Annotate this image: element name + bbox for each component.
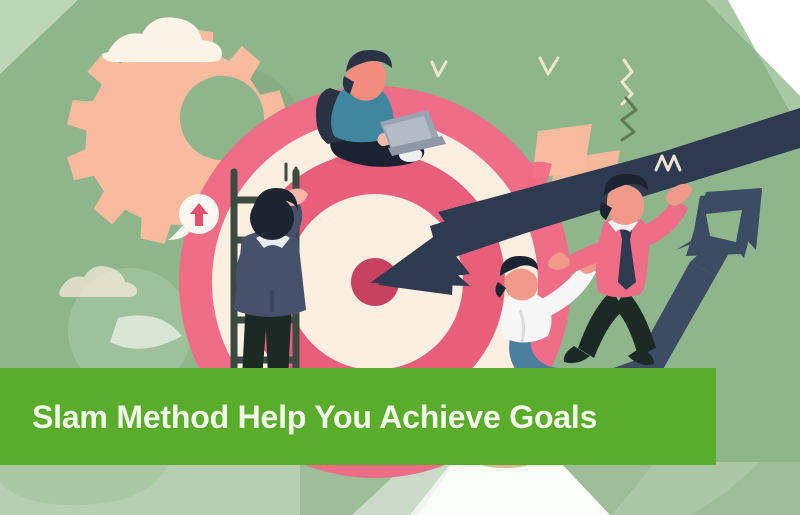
headline-banner: Slam Method Help You Achieve Goals — [0, 368, 716, 465]
headline-text: Slam Method Help You Achieve Goals — [32, 401, 597, 433]
illustration-canvas: Slam Method Help You Achieve Goals — [0, 0, 800, 515]
